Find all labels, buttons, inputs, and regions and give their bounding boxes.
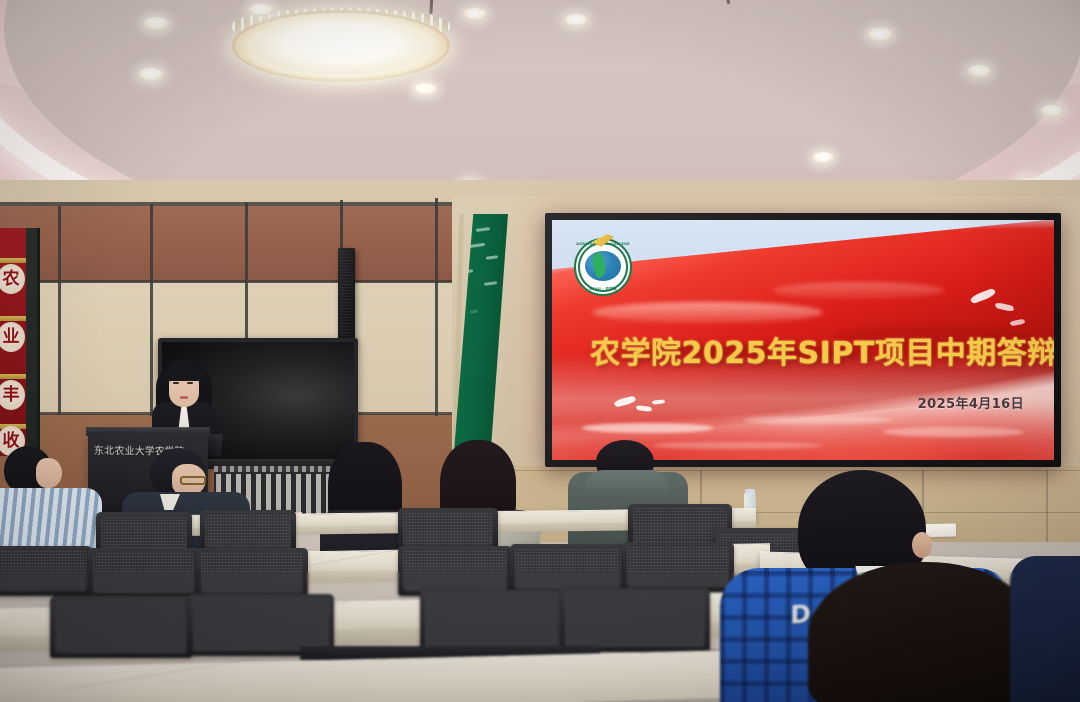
chair[interactable] <box>398 546 512 596</box>
eyeglasses-icon <box>180 476 206 485</box>
led-screen-content: AGRICULTURAL COLLEGE NEAU · 农学院 农学院2025年… <box>552 220 1054 460</box>
upper-wood-panel <box>0 206 452 282</box>
spot-light <box>1040 105 1064 117</box>
wall-speaker <box>338 248 355 346</box>
audience-member <box>1010 556 1080 702</box>
speaker-grille <box>340 250 353 336</box>
spot-light <box>143 17 169 30</box>
university-logo: AGRICULTURAL COLLEGE NEAU · 农学院 <box>574 238 632 296</box>
chair[interactable] <box>196 548 308 598</box>
spot-light <box>564 14 588 26</box>
person-torso <box>1010 556 1080 702</box>
ceiling-lamp-diffuser <box>252 20 430 74</box>
spot-light <box>463 8 487 20</box>
presenter-mouth <box>180 396 188 399</box>
led-video-wall: AGRICULTURAL COLLEGE NEAU · 农学院 农学院2025年… <box>545 213 1061 467</box>
person-ear <box>912 532 932 558</box>
chair[interactable] <box>420 590 570 654</box>
spot-light <box>867 28 893 41</box>
spot-light <box>138 68 164 81</box>
spot-light <box>812 152 834 163</box>
spot-light <box>413 83 437 95</box>
vertical-red-banner: 农 业 丰 收 <box>0 228 40 456</box>
spot-light <box>967 65 991 77</box>
logo-text-bottom: NEAU · 农学院 <box>574 287 632 292</box>
chair[interactable] <box>560 588 710 652</box>
spot-light <box>248 4 274 16</box>
hoodie-hood <box>584 470 670 496</box>
person-face <box>36 458 62 488</box>
presenter-fringe <box>166 364 202 381</box>
chair[interactable] <box>622 542 734 592</box>
chair[interactable] <box>88 548 200 598</box>
lecture-hall-scene: 农 业 丰 收 <box>0 0 1080 702</box>
screen-date-label: 2025年4月16日 <box>918 393 1024 412</box>
screen-main-title: 农学院2025年SIPT项目中期答辩 <box>590 328 1042 372</box>
chair[interactable] <box>510 544 626 594</box>
person-hair <box>808 562 1038 702</box>
chair[interactable] <box>0 546 92 596</box>
chair[interactable] <box>50 596 192 658</box>
